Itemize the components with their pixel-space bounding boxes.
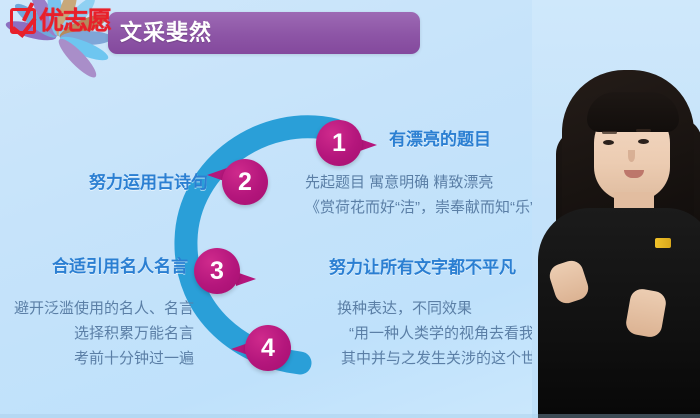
section-3-line-3: 考前十分钟过一遍: [14, 346, 194, 371]
title-banner: 文采斐然: [108, 12, 420, 54]
section-3-line-2: 选择积累万能名言: [14, 321, 194, 346]
badge-3-number: 3: [194, 248, 240, 294]
presenter-video: [532, 0, 700, 418]
section-1-heading-wrap: 有漂亮的题目: [389, 125, 491, 150]
presenter-brow-left: [602, 131, 617, 134]
presenter-brow-right: [636, 129, 651, 132]
page-title: 文采斐然: [120, 21, 212, 45]
badge-4[interactable]: 4: [245, 325, 291, 371]
presenter-fringe: [587, 92, 679, 132]
section-3-heading-wrap: 合适引用名人名言: [24, 252, 188, 277]
badge-1[interactable]: 1: [316, 120, 362, 166]
watermark-text: 优志愿: [39, 9, 111, 34]
presenter-eye-left: [603, 140, 614, 145]
watermark-logo: 优志愿: [10, 8, 111, 34]
section-4-heading-wrap: 努力让所有文字都不平凡: [329, 253, 516, 278]
badge-2-number: 2: [222, 159, 268, 205]
section-2-heading: 努力运用古诗句: [48, 168, 208, 193]
slide-stage: 优志愿 文采斐然 1 2 3 4 有漂亮的题目 先起题目 寓意明确 精致漂亮 《…: [0, 0, 700, 418]
section-4-heading: 努力让所有文字都不平凡: [329, 253, 516, 278]
section-3-line-1: 避开泛滥使用的名人、名言: [14, 296, 194, 321]
presenter-torso: [538, 208, 700, 418]
badge-3[interactable]: 3: [194, 248, 240, 294]
section-3-heading: 合适引用名人名言: [24, 252, 188, 277]
section-1-heading: 有漂亮的题目: [389, 125, 491, 150]
badge-4-number: 4: [245, 325, 291, 371]
section-1-body: 先起题目 寓意明确 精致漂亮 《赏荷花而好“洁”，崇奉献而知“乐”》: [305, 170, 550, 220]
badge-2[interactable]: 2: [222, 159, 268, 205]
presenter-eye-right: [638, 139, 649, 144]
presenter-nose: [628, 150, 635, 162]
presenter-logo-badge: [655, 238, 671, 248]
section-3-body: 避开泛滥使用的名人、名言 选择积累万能名言 考前十分钟过一遍: [14, 296, 194, 371]
section-2-heading-wrap: 努力运用古诗句: [48, 168, 208, 193]
badge-1-number: 1: [316, 120, 362, 166]
checkbox-check-icon: [10, 8, 36, 34]
section-1-line-1: 先起题目 寓意明确 精致漂亮: [305, 170, 550, 195]
bottom-bar: [0, 414, 700, 418]
section-1-line-2: 《赏荷花而好“洁”，崇奉献而知“乐”》: [305, 195, 550, 220]
